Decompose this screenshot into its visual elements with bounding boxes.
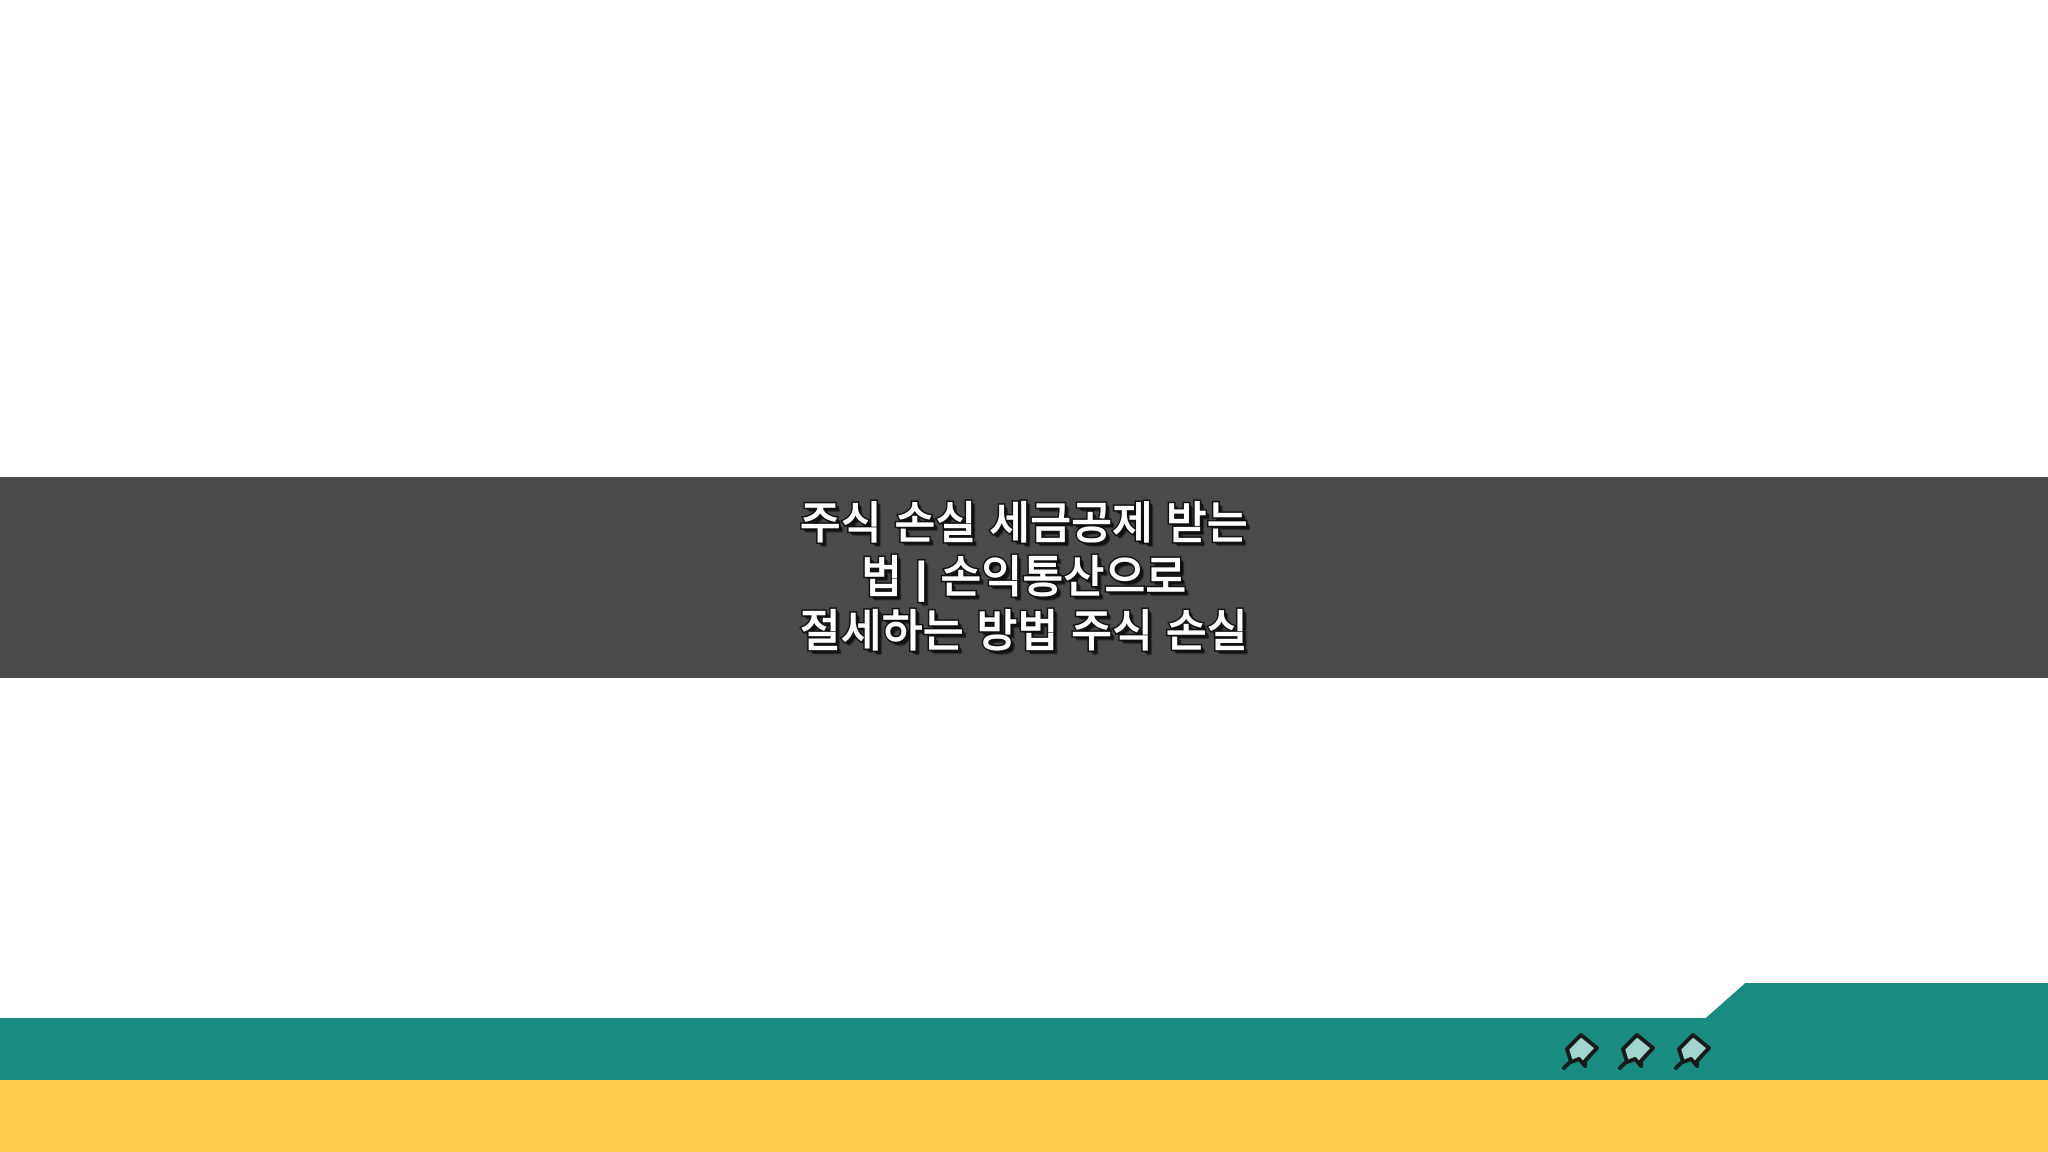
page-root: 주식 손실 세금공제 받는 법 | 손익통산으로 절세하는 방법 주식 손실: [0, 0, 2048, 1152]
title-line-3: 절세하는 방법 주식 손실: [800, 605, 1248, 659]
yellow-footer-bar: [0, 1080, 2048, 1152]
pushpin-icon[interactable]: [1672, 1028, 1716, 1072]
title-line-1: 주식 손실 세금공제 받는: [800, 497, 1248, 551]
canvas-top-blank: [0, 0, 2048, 477]
pushpin-row: [1560, 1026, 1720, 1074]
pushpin-icon[interactable]: [1616, 1028, 1660, 1072]
title-line-2: 법 | 손익통산으로: [800, 551, 1248, 605]
page-title: 주식 손실 세금공제 받는 법 | 손익통산으로 절세하는 방법 주식 손실: [800, 497, 1248, 659]
canvas-middle-blank: [0, 678, 2048, 1018]
teal-footer-bar: [0, 1018, 2048, 1080]
title-band: 주식 손실 세금공제 받는 법 | 손익통산으로 절세하는 방법 주식 손실: [0, 477, 2048, 678]
teal-bar-tab: [1700, 983, 2048, 1023]
pushpin-icon[interactable]: [1560, 1028, 1604, 1072]
